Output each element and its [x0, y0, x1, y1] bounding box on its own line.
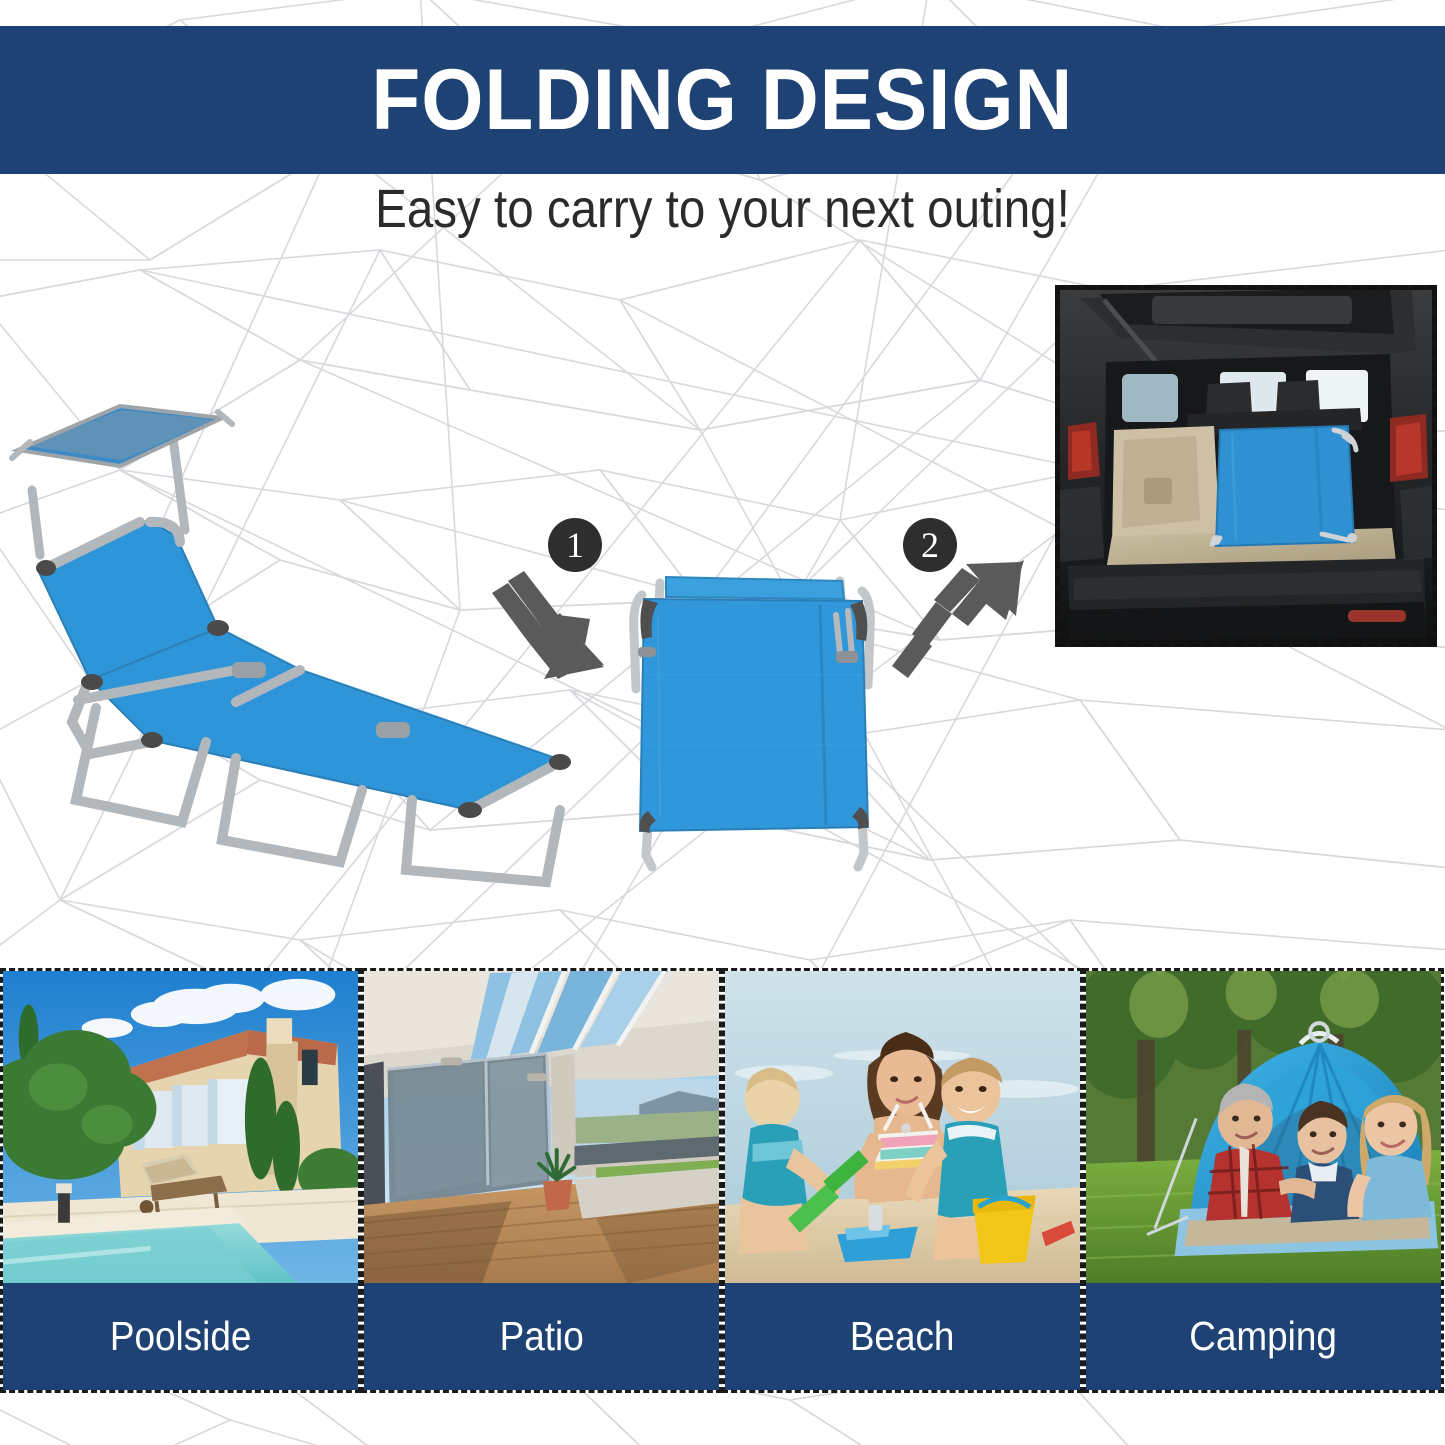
card-label-camping: Camping — [1086, 1283, 1441, 1390]
use-case-card-poolside[interactable]: Poolside — [0, 968, 361, 1393]
step-arrow-up-right-icon — [888, 558, 1028, 688]
use-case-card-row: Poolside — [0, 968, 1445, 1393]
card-label-poolside: Poolside — [3, 1283, 358, 1390]
folding-steps-stage: 1 — [0, 260, 1445, 960]
poolside-photo — [3, 971, 358, 1289]
card-label-beach: Beach — [725, 1283, 1080, 1390]
suv-trunk-photo — [1055, 285, 1437, 647]
use-case-card-beach[interactable]: Beach — [722, 968, 1083, 1393]
infographic-page: FOLDING DESIGN Easy to carry to your nex… — [0, 0, 1445, 1445]
beach-photo — [725, 971, 1080, 1289]
card-label-patio: Patio — [364, 1283, 719, 1390]
header-banner: FOLDING DESIGN — [0, 26, 1445, 174]
page-title: FOLDING DESIGN — [372, 57, 1074, 143]
step-arrow-down-right-icon — [486, 555, 616, 685]
use-case-card-patio[interactable]: Patio — [361, 968, 722, 1393]
use-case-card-camping[interactable]: Camping — [1083, 968, 1444, 1393]
product-folded-lounger-illustration — [600, 555, 910, 875]
subtitle-text: Easy to carry to your next outing! — [87, 182, 1359, 236]
camping-photo — [1086, 971, 1441, 1289]
patio-photo — [364, 971, 719, 1289]
